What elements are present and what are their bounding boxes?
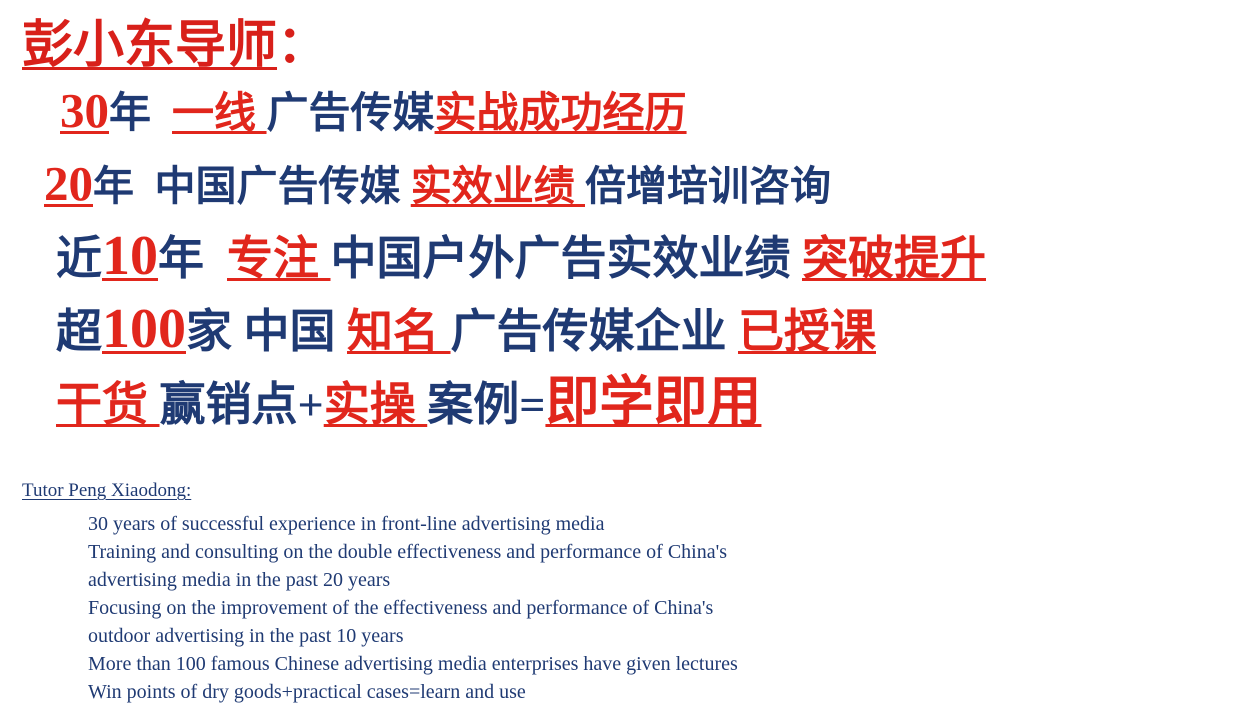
chinese-headline-block: 彭小东导师： 30年 一线 广告传媒实战成功经历 20年 中国广告传媒 实效业绩…: [0, 0, 1259, 440]
translation-list: 30 years of successful experience in fro…: [0, 510, 1259, 706]
translation-heading-wrap: Tutor Peng Xiaodong:: [0, 478, 1259, 504]
list-item: Win points of dry goods+practical cases=…: [88, 678, 1259, 706]
headline-line-2: 20年 中国广告传媒 实效业绩 倍增培训咨询: [0, 149, 1259, 221]
list-item: 30 years of successful experience in fro…: [88, 510, 1259, 538]
slide-canvas: 彭小东导师： 30年 一线 广告传媒实战成功经历 20年 中国广告传媒 实效业绩…: [0, 0, 1259, 726]
english-translation-block: Tutor Peng Xiaodong: 30 years of success…: [0, 478, 1259, 706]
list-item: Focusing on the improvement of the effec…: [88, 594, 1259, 650]
headline-line-5: 干货 赢销点+实操 案例=即学即用: [0, 367, 1259, 440]
page-title-colon: ：: [277, 18, 328, 74]
page-title-text: 彭小东导师: [22, 18, 277, 74]
list-item: More than 100 famous Chinese advertising…: [88, 650, 1259, 678]
headline-line-4: 超100家 中国 知名 广告传媒企业 已授课: [0, 294, 1259, 367]
translation-heading: Tutor Peng Xiaodong:: [0, 478, 191, 504]
headline-line-1: 30年 一线 广告传媒实战成功经历: [0, 76, 1259, 149]
list-item: Training and consulting on the double ef…: [88, 538, 1259, 594]
page-title: 彭小东导师：: [0, 0, 1259, 76]
headline-line-3: 近10年 专注 中国户外广告实效业绩 突破提升: [0, 221, 1259, 294]
